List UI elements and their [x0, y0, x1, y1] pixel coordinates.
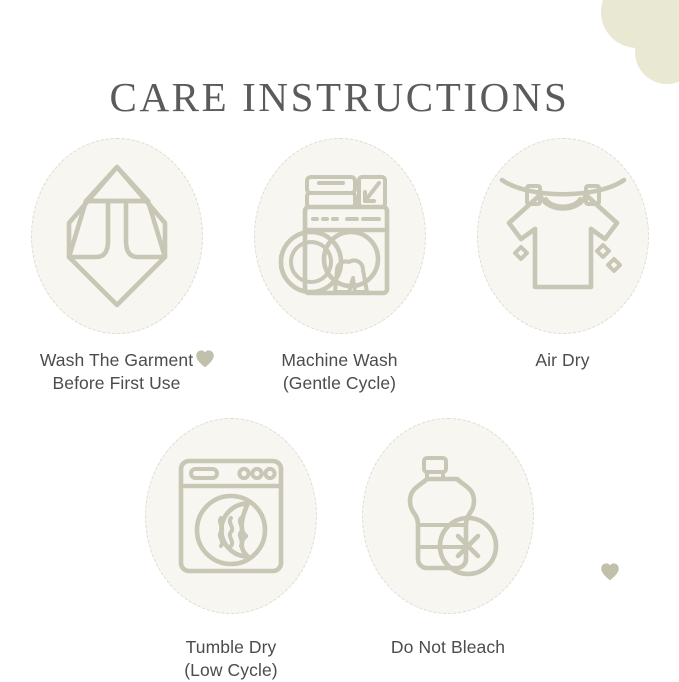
- clothesline-tshirt-icon: [499, 173, 627, 299]
- icon-disc-washing-machine: [254, 138, 426, 334]
- care-item-label: Wash The Garment Before First Use: [40, 349, 193, 395]
- icon-disc-do-not-bleach: [362, 418, 534, 614]
- care-item-tumble-dry[interactable]: Tumble Dry (Low Cycle): [123, 418, 340, 682]
- care-item-label: Machine Wash (Gentle Cycle): [281, 349, 397, 395]
- care-row-top: Wash The Garment Before First Use: [0, 138, 679, 395]
- no-bleach-bottle-icon: [396, 455, 500, 577]
- care-item-label: Air Dry: [535, 349, 589, 372]
- care-row-bottom: Tumble Dry (Low Cycle) Do Not Bleach: [0, 418, 679, 682]
- icon-disc-tumble-dry: [145, 418, 317, 614]
- care-item-machine-wash[interactable]: Machine Wash (Gentle Cycle): [228, 138, 451, 395]
- heart-icon-inline: [195, 349, 215, 369]
- care-item-label: Tumble Dry (Low Cycle): [184, 636, 277, 682]
- icon-disc-folded-garment: [31, 138, 203, 334]
- care-item-label: Do Not Bleach: [391, 636, 505, 659]
- icon-disc-air-dry: [477, 138, 649, 334]
- care-item-do-not-bleach[interactable]: Do Not Bleach: [340, 418, 557, 682]
- care-item-air-dry[interactable]: Air Dry: [451, 138, 674, 395]
- washing-machine-icon: [281, 174, 399, 298]
- folded-garment-icon: [62, 161, 172, 311]
- heart-icon-corner: [600, 562, 620, 582]
- page-title: CARE INSTRUCTIONS: [0, 73, 679, 121]
- tumble-dryer-icon: [178, 458, 284, 574]
